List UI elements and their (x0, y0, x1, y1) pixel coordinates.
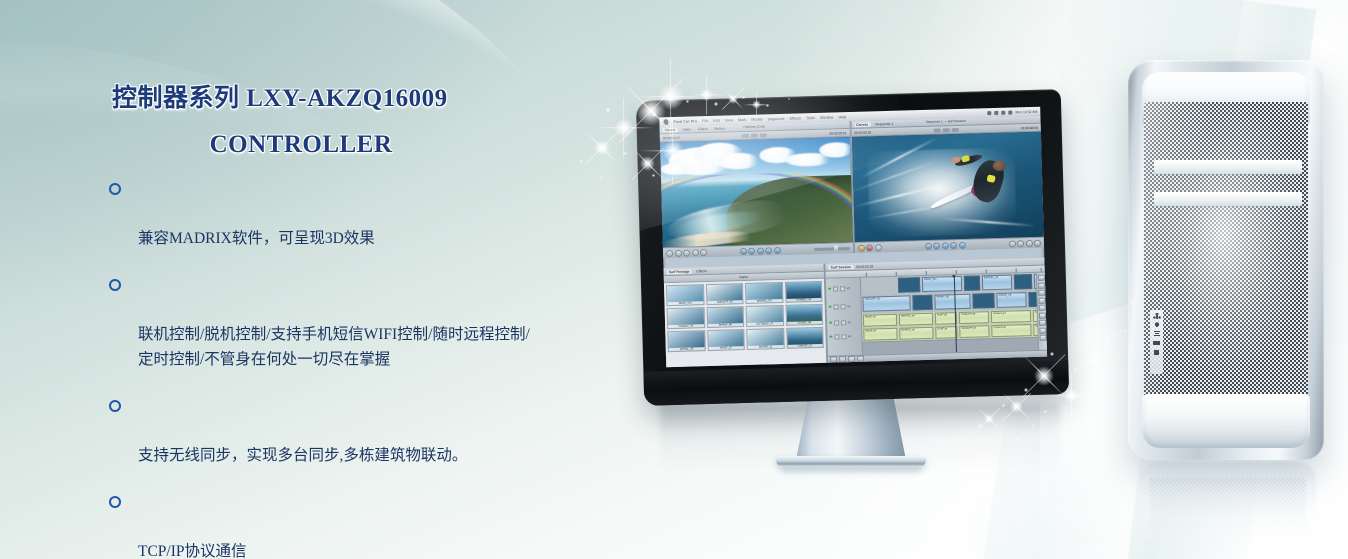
timeline-audio-clip[interactable]: BARREL.aif (899, 313, 933, 326)
slip-tool-icon[interactable] (1038, 305, 1045, 311)
product-banner: Final Cut Pro File Edit View Mark Modify… (0, 0, 1348, 559)
viewer-right-transport[interactable] (924, 241, 965, 249)
clip-label: SURF.aif (936, 327, 956, 331)
mac-pro-tower (1128, 60, 1324, 460)
clip-label: BARREL.aif (900, 328, 932, 332)
timeline-audio-clip[interactable]: BARREL.aif (899, 327, 933, 340)
ghost-label-1: · · · · (1284, 424, 1295, 430)
crop-tool-icon[interactable] (1039, 327, 1046, 333)
timeline-clip[interactable] (898, 277, 920, 293)
timeline-clip[interactable]: TAKEOFF_02 (862, 295, 910, 311)
tower-reflection-grill (1150, 478, 1306, 548)
timeline-clip[interactable]: BARREL_03 (982, 275, 1012, 291)
play-button[interactable] (941, 242, 948, 249)
audio-icon[interactable] (1153, 322, 1161, 328)
timeline-tool-palette[interactable] (1036, 273, 1047, 350)
tower-bottom-handle (1142, 394, 1310, 448)
timeline-clip[interactable] (1014, 274, 1032, 289)
text-column: 控制器系列 LXY-AKZQ16009 CONTROLLER 兼容MADRIX软… (0, 0, 860, 559)
zoom-popup[interactable] (933, 128, 940, 132)
bullet-circle-icon (109, 183, 121, 195)
list-item: 联机控制/脱机控制/支持手机短信WIFI控制/随时远程控制/ 定时控制/不管身在… (108, 272, 848, 372)
list-item: 兼容MADRIX软件，可呈现3D效果 (108, 176, 848, 251)
timecode-popup[interactable] (951, 127, 958, 131)
timeline-clip[interactable] (964, 275, 980, 290)
timeline-audio-clip[interactable]: SURF.aif (935, 326, 957, 339)
timeline-clip[interactable]: WAVE_001 (922, 276, 962, 292)
surfer-wave-image (851, 132, 1043, 242)
list-item: 支持无线同步，实现多台同步,多栋建筑物联动。 (108, 393, 848, 468)
zoom-tool-icon[interactable] (1039, 320, 1046, 326)
clip-label: BARREL_03 (983, 276, 1011, 280)
timeline-clip[interactable] (972, 293, 994, 309)
menubar-clock[interactable]: Mon 10:52 AM (1015, 109, 1037, 114)
viewer-right-canvas[interactable] (851, 132, 1043, 242)
pen-tool-icon[interactable] (1039, 335, 1046, 341)
view-popup[interactable] (942, 128, 949, 132)
clip-label: SPRAY_06 (935, 295, 969, 299)
timeline-audio-clip[interactable]: Cutback.aif (991, 310, 1031, 323)
port-icon[interactable] (1153, 349, 1161, 355)
clip-label: TAKEOFF.aif (960, 326, 988, 330)
viewer-panel-right: Canvas Sequence 1 Sequence 1 — Surf Sess… (851, 116, 1044, 253)
clip-label: WAVE.aif (864, 329, 896, 333)
play-around-button[interactable] (950, 242, 957, 249)
ghost-label-2: · · · · · (1276, 452, 1290, 458)
add-marker-button[interactable] (1025, 239, 1032, 246)
previous-edit-button[interactable] (924, 242, 931, 249)
feature-text: 兼容MADRIX软件，可呈现3D效果 (138, 230, 375, 247)
feature-text: 联机控制/脱机控制/支持手机短信WIFI控制/随时远程控制/ 定时控制/不管身在… (138, 326, 530, 368)
list-item: TCP/IP协议通信 (108, 489, 848, 559)
mark-out-button[interactable] (1017, 240, 1024, 247)
clip-label: TAKEOFF_02 (863, 296, 909, 300)
tower-front-grill (1144, 102, 1308, 420)
timeline-audio-clip[interactable]: WAVE.aif (863, 328, 897, 341)
tower-reflection (1140, 462, 1316, 554)
viewer-right-edit-buttons[interactable] (857, 244, 881, 252)
bluetooth-icon[interactable] (987, 111, 991, 115)
product-subtitle: CONTROLLER (112, 128, 582, 162)
battery-icon[interactable] (1008, 110, 1012, 114)
usb-icon[interactable] (1153, 331, 1161, 337)
bullet-circle-icon (109, 496, 121, 508)
clip-label: WAVE.aif (864, 315, 896, 319)
viewer-right-extra-buttons[interactable] (1008, 239, 1041, 247)
feature-text: 支持无线同步，实现多台同步,多栋建筑物联动。 (138, 447, 467, 464)
viewer-right-duration[interactable]: 01:00:32:04 (1021, 125, 1038, 129)
clip-label: Cutback.aif (992, 325, 1030, 329)
match-frame-button[interactable] (1034, 239, 1041, 246)
feature-text: TCP/IP协议通信 (138, 543, 247, 559)
track-select-tool-icon[interactable] (1038, 290, 1045, 296)
edit-selection-tool-icon[interactable] (1038, 282, 1045, 288)
clip-label: TAKEOFF.aif (960, 312, 988, 316)
timeline-clip[interactable] (912, 295, 932, 311)
roll-tool-icon[interactable] (1038, 297, 1045, 303)
clip-label: Cutback.aif (992, 311, 1030, 315)
timeline-audio-clip[interactable]: WAVE.aif (863, 314, 897, 327)
overwrite-edit-button[interactable] (866, 244, 873, 251)
airport-icon[interactable] (1001, 110, 1005, 114)
timeline-clip[interactable]: COAST_08 (996, 292, 1026, 308)
volume-icon[interactable] (994, 110, 998, 114)
tower-port-cluster[interactable] (1150, 310, 1163, 374)
bullet-circle-icon (109, 279, 121, 291)
timeline-audio-clip[interactable]: TAKEOFF.aif (959, 311, 989, 324)
razor-tool-icon[interactable] (1038, 312, 1045, 318)
product-model-title: 控制器系列 LXY-AKZQ16009 (112, 84, 582, 114)
page-title: 控制器系列 LXY-AKZQ16009 CONTROLLER (112, 84, 582, 162)
next-edit-button[interactable] (958, 241, 965, 248)
optical-drive-slot-2[interactable] (1154, 192, 1302, 206)
tab-sequence[interactable]: Sequence 1 (873, 121, 895, 126)
port-icon[interactable] (1153, 340, 1161, 346)
replace-edit-button[interactable] (874, 244, 881, 251)
timeline-audio-clip[interactable]: SURF.aif (935, 312, 957, 325)
optical-drive-slot-1[interactable] (1154, 160, 1302, 174)
timeline-audio-clip[interactable]: Cutback.aif (991, 324, 1031, 337)
tower-enclosure (1128, 60, 1324, 460)
firewire-icon[interactable] (1153, 313, 1161, 319)
feature-list: 兼容MADRIX软件，可呈现3D效果 联机控制/脱机控制/支持手机短信WIFI控… (108, 176, 848, 559)
bullet-circle-icon (109, 400, 121, 412)
clip-label: BARREL.aif (900, 314, 932, 318)
clip-label: SURF.aif (936, 313, 956, 317)
timeline-clip[interactable]: SPRAY_06 (934, 294, 970, 310)
clip-label: COAST_08 (997, 293, 1025, 297)
selection-tool-icon[interactable] (1037, 275, 1044, 281)
timeline-audio-clip[interactable]: TAKEOFF.aif (959, 325, 989, 338)
play-in-to-out-button[interactable] (933, 242, 940, 249)
viewer-right-popups[interactable] (933, 127, 958, 132)
mark-in-button[interactable] (1008, 240, 1015, 247)
